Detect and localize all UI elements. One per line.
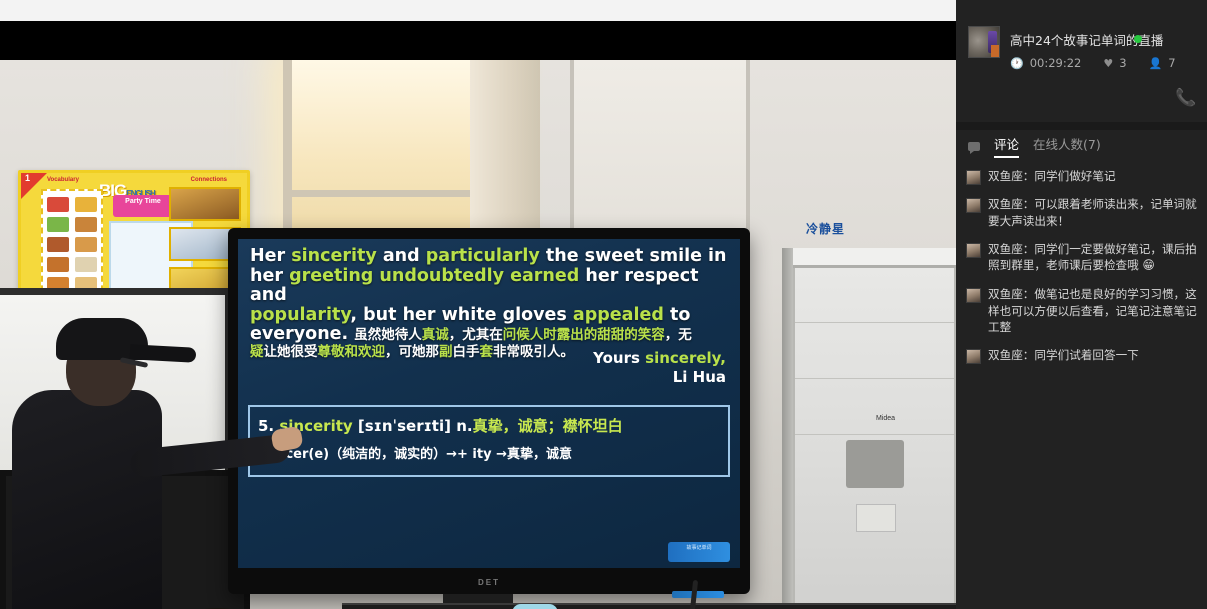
comment-sep: ： xyxy=(1023,287,1035,301)
teacher-body xyxy=(12,390,162,609)
ac-logo: 冷静星 xyxy=(806,220,845,237)
comment-nick: 双鱼座 xyxy=(988,348,1023,362)
tab-comments[interactable]: 评论 xyxy=(994,134,1019,158)
slide-line1-hl: sincerity xyxy=(291,246,377,266)
live-status-dot xyxy=(1134,35,1142,43)
grin-emoji: 😁 xyxy=(1142,258,1155,272)
big-english-poster: 1 Vocabulary Connections BIGENGLISH Part… xyxy=(18,170,250,305)
video-letterbox-top xyxy=(0,21,956,60)
desk-mask xyxy=(512,604,558,609)
sidebar-divider xyxy=(956,122,1207,130)
window-top-strip xyxy=(0,0,956,21)
stream-thumbnail[interactable] xyxy=(968,26,1000,58)
slide-paragraph: Her sincerity and particularly the sweet… xyxy=(250,247,730,360)
slide-line-4: everyone. 虽然她待人真诚，尤其在问候人时露出的甜甜的笑容，无 xyxy=(250,325,730,345)
live-video-player[interactable]: 1 Vocabulary Connections BIGENGLISH Part… xyxy=(0,60,956,609)
window-mullion xyxy=(283,190,483,197)
heart-icon: ♥ xyxy=(1103,57,1113,70)
comment-text: 双鱼座：可以跟着老师读出来，记单词就要大声读出来！ xyxy=(988,196,1197,230)
air-conditioner-top xyxy=(793,248,956,268)
stream-duration: 00:29:22 xyxy=(1030,56,1082,70)
slide-line-1: Her sincerity and particularly the sweet… xyxy=(250,247,730,267)
slide-watermark: 故事记单词 xyxy=(668,542,730,562)
ac-badge xyxy=(856,504,896,532)
slide-line-2: her greeting undoubtedly earned her resp… xyxy=(250,267,730,306)
ac-display-panel xyxy=(846,440,904,488)
smartboard-screen: Her sincerity and particularly the sweet… xyxy=(238,239,740,568)
list-item: 双鱼座：同学们试着回答一下 xyxy=(966,347,1197,364)
avatar xyxy=(966,349,981,364)
like-count: 3 xyxy=(1119,56,1126,70)
tv-brand-label: DET xyxy=(478,578,500,587)
poster-label-right: Connections xyxy=(191,177,227,183)
comment-list[interactable]: 双鱼座：同学们做好笔记 双鱼座：可以跟着老师读出来，记单词就要大声读出来！ 双鱼… xyxy=(956,168,1207,609)
poster-corner-number: 1 xyxy=(25,173,30,183)
comment-sep: ： xyxy=(1023,169,1035,183)
air-conditioner xyxy=(793,248,956,609)
vocab-line-2: sincer(e)（纯洁的，诚实的）→+ ity →真挚，诚意 xyxy=(264,443,572,462)
comment-text: 双鱼座：同学们试着回答一下 xyxy=(988,347,1139,364)
slide-signoff: Yours sincerely, Li Hua xyxy=(593,349,726,387)
comment-text: 双鱼座：同学们做好笔记 xyxy=(988,168,1116,185)
comment-text: 双鱼座：同学们一定要做好笔记，课后拍照到群里，老师课后要检查哦 😁 xyxy=(988,241,1197,275)
comment-body: 同学们试着回答一下 xyxy=(1034,348,1138,362)
live-sidebar: 高中24个故事记单词的直播 🕐 00:29:22 ♥ 3 👤 7 📞 评论 在线… xyxy=(956,0,1207,609)
comment-sep: ： xyxy=(1023,348,1035,362)
comment-nick: 双鱼座 xyxy=(988,242,1023,256)
comment-nick: 双鱼座 xyxy=(988,287,1023,301)
app-root: 1 Vocabulary Connections BIGENGLISH Part… xyxy=(0,0,1207,609)
viewer-count: 7 xyxy=(1168,56,1175,70)
signoff-line-2: Li Hua xyxy=(593,368,726,387)
poster-vocab-column xyxy=(41,189,103,301)
phone-call-icon[interactable]: 📞 xyxy=(1175,88,1195,108)
slide-line-3: popularity, but her white gloves appeale… xyxy=(250,306,730,326)
avatar xyxy=(966,243,981,258)
comment-sep: ： xyxy=(1023,197,1035,211)
person-icon: 👤 xyxy=(1149,57,1163,70)
avatar xyxy=(966,198,981,213)
desk xyxy=(342,605,956,609)
poster-label-left: Vocabulary xyxy=(47,177,79,183)
list-item: 双鱼座：可以跟着老师读出来，记单词就要大声读出来！ xyxy=(966,196,1197,230)
comment-sep: ： xyxy=(1023,242,1035,256)
sidebar-header: 高中24个故事记单词的直播 🕐 00:29:22 ♥ 3 👤 7 📞 xyxy=(956,0,1207,122)
avatar xyxy=(966,170,981,185)
list-item: 双鱼座：做笔记也是良好的学习习惯，这样也可以方便以后查看，记笔记注意笔记工整 xyxy=(966,286,1197,336)
comment-nick: 双鱼座 xyxy=(988,169,1023,183)
ac-brand: Midea xyxy=(876,415,895,422)
chat-bubble-icon xyxy=(968,142,980,151)
vocab-line-1: 5. sincerity [sɪnˈserɪti] n.真挚，诚意；襟怀坦白 xyxy=(258,415,623,436)
vocabulary-box: 5. sincerity [sɪnˈserɪti] n.真挚，诚意；襟怀坦白 s… xyxy=(248,405,730,477)
tv-indicator-strip xyxy=(672,591,724,598)
avatar xyxy=(966,288,981,303)
smartboard-tv: Her sincerity and particularly the sweet… xyxy=(228,228,750,594)
poster-badge: Party Time xyxy=(113,195,173,217)
comment-body: 同学们做好笔记 xyxy=(1034,169,1115,183)
sidebar-tabs: 评论 在线人数(7) xyxy=(956,130,1207,162)
comment-text: 双鱼座：做笔记也是良好的学习习惯，这样也可以方便以后查看，记笔记注意笔记工整 xyxy=(988,286,1197,336)
stream-stats: 🕐 00:29:22 ♥ 3 👤 7 xyxy=(1010,56,1176,70)
clock-icon: 🕐 xyxy=(1010,57,1024,70)
list-item: 双鱼座：同学们做好笔记 xyxy=(966,168,1197,185)
signoff-line-1: Yours sincerely, xyxy=(593,349,726,368)
list-item: 双鱼座：同学们一定要做好笔记，课后拍照到群里，老师课后要检查哦 😁 xyxy=(966,241,1197,275)
comment-nick: 双鱼座 xyxy=(988,197,1023,211)
tab-online-users[interactable]: 在线人数(7) xyxy=(1033,134,1101,158)
